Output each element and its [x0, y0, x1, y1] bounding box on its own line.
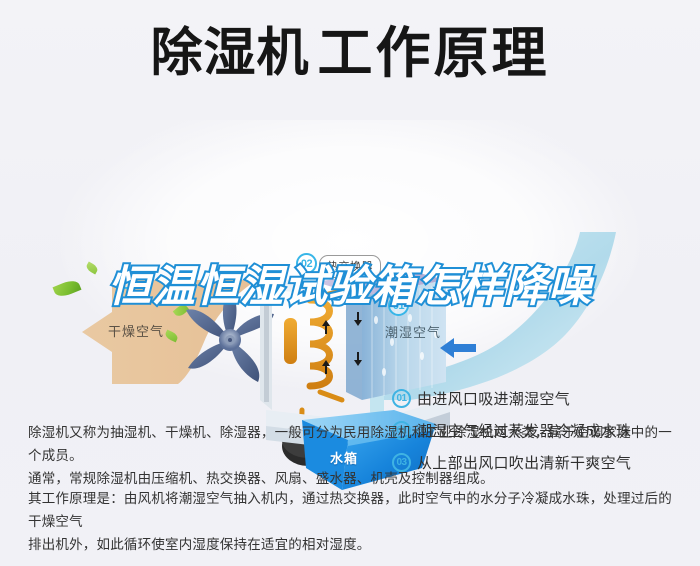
- humid-air-label: 潮湿空气: [385, 322, 441, 341]
- legend-text-01: 由进风口吸进潮湿空气: [417, 388, 570, 409]
- body-paragraph-one: 除湿机又称为抽湿机、干燥机、除湿器，一般可分为民用除湿机和工业除湿机两大类，属于…: [28, 421, 676, 490]
- paragraph-one-line-one: 除湿机又称为抽湿机、干燥机、除湿器，一般可分为民用除湿机和工业除湿机两大类，属于…: [28, 421, 676, 467]
- title-part-one: 除湿机: [150, 25, 309, 83]
- principle-diagram: 水箱 热交换器 03 02 01 干燥空气 潮湿空气 01 由进风口吸进潮湿空气…: [0, 110, 700, 400]
- watermark-overlay-title: 恒温恒湿试验箱怎样降噪: [0, 266, 700, 309]
- dry-air-label: 干燥空气: [108, 321, 164, 340]
- paragraph-two-line-two: 排出机外，如此循环使室内湿度保持在适宜的相对湿度。: [28, 533, 676, 556]
- legend-badge-01: 01: [392, 389, 411, 408]
- title-part-two: 工作原理: [318, 22, 550, 84]
- legend-item-01: 01 由进风口吸进潮湿空气: [392, 384, 692, 412]
- body-paragraph-two: 其工作原理是：由风机将潮湿空气抽入机内，通过热交换器，此时空气中的水分子冷凝成水…: [28, 487, 676, 556]
- page-title: 除湿机工作原理: [0, 26, 700, 81]
- paragraph-two-line-one: 其工作原理是：由风机将潮湿空气抽入机内，通过热交换器，此时空气中的水分子冷凝成水…: [28, 487, 676, 533]
- dehumidifier-principle-infographic: 除湿机工作原理: [0, 0, 700, 566]
